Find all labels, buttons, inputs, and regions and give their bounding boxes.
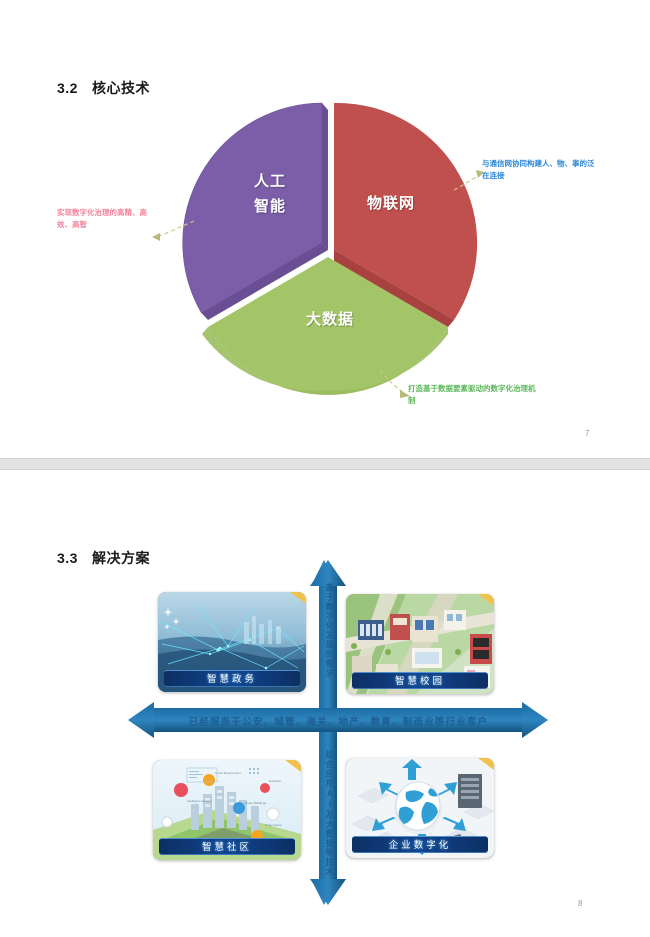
slide-separator [0, 458, 650, 470]
annotation-ai: 实现数字化治理的高精、高效、高智 [57, 207, 161, 230]
page-title-number: 3.2 [57, 80, 78, 96]
solutions-quadrant-diagram: 已经服务于公安、城管、海关、地产、教育、制造业等行业客户 基于数字化发展的需求 … [128, 560, 548, 905]
axis-label-vertical-up: 基于数字化发展的需求 [324, 583, 336, 678]
card-corner-accent [285, 760, 301, 772]
pie-label-bigdata: 大数据 [282, 308, 378, 329]
card-corner-accent [290, 592, 306, 604]
page-title-text: 核心技术 [92, 80, 150, 96]
card-smart-community[interactable]: Intelligent Housing Smart Environment Sm… [153, 760, 301, 860]
annotation-bigdata: 打造基于数据要素驱动的数字化治理机制 [408, 383, 538, 406]
annotation-iot: 与通信网协同构建人、物、事的泛在连接 [482, 158, 598, 181]
card-corner-accent [478, 594, 494, 606]
pie-label-ai: 人工 智能 [222, 170, 318, 220]
axis-label-horizontal: 已经服务于公安、城管、海关、地产、教育、制造业等行业客户 [181, 714, 496, 728]
svg-text:Smart Environment: Smart Environment [215, 771, 241, 775]
card-caption: 企业数字化 [352, 836, 488, 853]
core-technology-pie-diagram: 人工 智能 物联网 大数据 [186, 100, 466, 390]
card-enterprise-digitalization[interactable]: 企业数字化 [346, 758, 494, 858]
document-page: 3.2核心技术 [0, 0, 650, 937]
pie-label-ai-line1: 人工 [222, 170, 318, 195]
card-smart-campus[interactable]: 智慧校园 [346, 594, 494, 694]
slide-core-technology: 3.2核心技术 [0, 0, 650, 458]
svg-text:Emission: Emission [269, 779, 282, 783]
card-smart-government[interactable]: 智慧政务 [158, 592, 306, 692]
page-title-number: 3.3 [57, 550, 78, 566]
page-number: 8 [578, 899, 582, 908]
pie-segment-bigdata[interactable] [186, 100, 466, 380]
pie-label-iot: 物联网 [346, 192, 436, 213]
pie-label-ai-line2: 智能 [222, 195, 318, 220]
card-caption: 智慧社区 [159, 838, 295, 855]
svg-text:Intelligent Housing: Intelligent Housing [187, 799, 212, 803]
card-caption: 智慧校园 [352, 672, 488, 689]
svg-text:Smart Home: Smart Home [265, 823, 282, 827]
svg-text:Smart Buildings: Smart Buildings [245, 801, 267, 805]
card-corner-accent [478, 758, 494, 770]
page-title: 3.2核心技术 [57, 78, 150, 98]
page-number: 7 [585, 429, 589, 438]
card-caption: 智慧政务 [164, 670, 300, 687]
axis-label-vertical-down: 综合应用AI及大数据等技术 [324, 750, 336, 877]
